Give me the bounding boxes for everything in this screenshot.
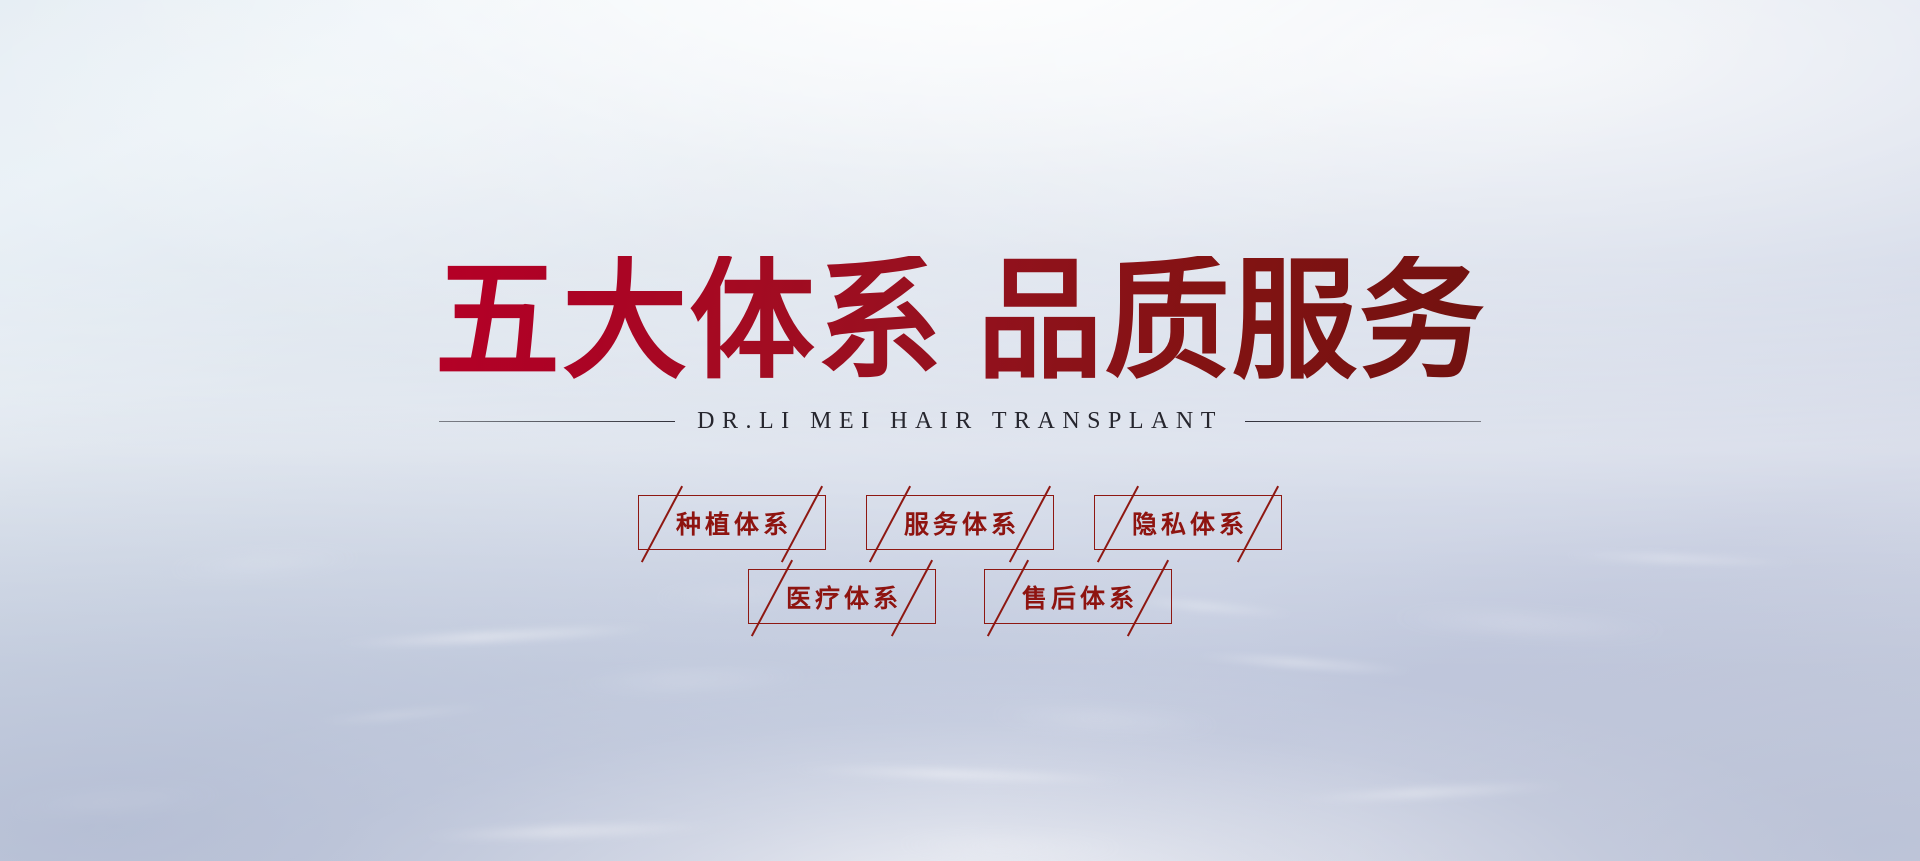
badge-aftersales-system[interactable]: 售后体系 — [984, 569, 1172, 624]
badge-label: 售后体系 — [1022, 579, 1138, 615]
badge-label: 医疗体系 — [786, 579, 902, 615]
subtitle-block: DR.LI MEI HAIR TRANSPLANT — [0, 408, 1920, 435]
badge-label: 种植体系 — [676, 505, 792, 541]
system-badges: 种植体系 服务体系 隐私体系 医疗体系 — [0, 495, 1920, 624]
badge-label: 服务体系 — [904, 505, 1020, 541]
badge-service-system[interactable]: 服务体系 — [866, 495, 1054, 550]
banner-canvas: 五大体系 品质服务 DR.LI MEI HAIR TRANSPLANT 种植体系… — [0, 0, 1920, 861]
badge-row-secondary: 医疗体系 售后体系 — [0, 569, 1920, 624]
badge-planting-system[interactable]: 种植体系 — [638, 495, 826, 550]
subtitle-text: DR.LI MEI HAIR TRANSPLANT — [675, 408, 1245, 435]
badge-label: 隐私体系 — [1132, 505, 1248, 541]
badge-privacy-system[interactable]: 隐私体系 — [1094, 495, 1282, 550]
subtitle-rule-right — [1245, 421, 1481, 422]
badge-medical-system[interactable]: 医疗体系 — [748, 569, 936, 624]
badge-row-primary: 种植体系 服务体系 隐私体系 — [0, 495, 1920, 550]
headline-title: 五大体系 品质服务 — [434, 256, 1486, 388]
subtitle-rule-left — [439, 421, 675, 422]
